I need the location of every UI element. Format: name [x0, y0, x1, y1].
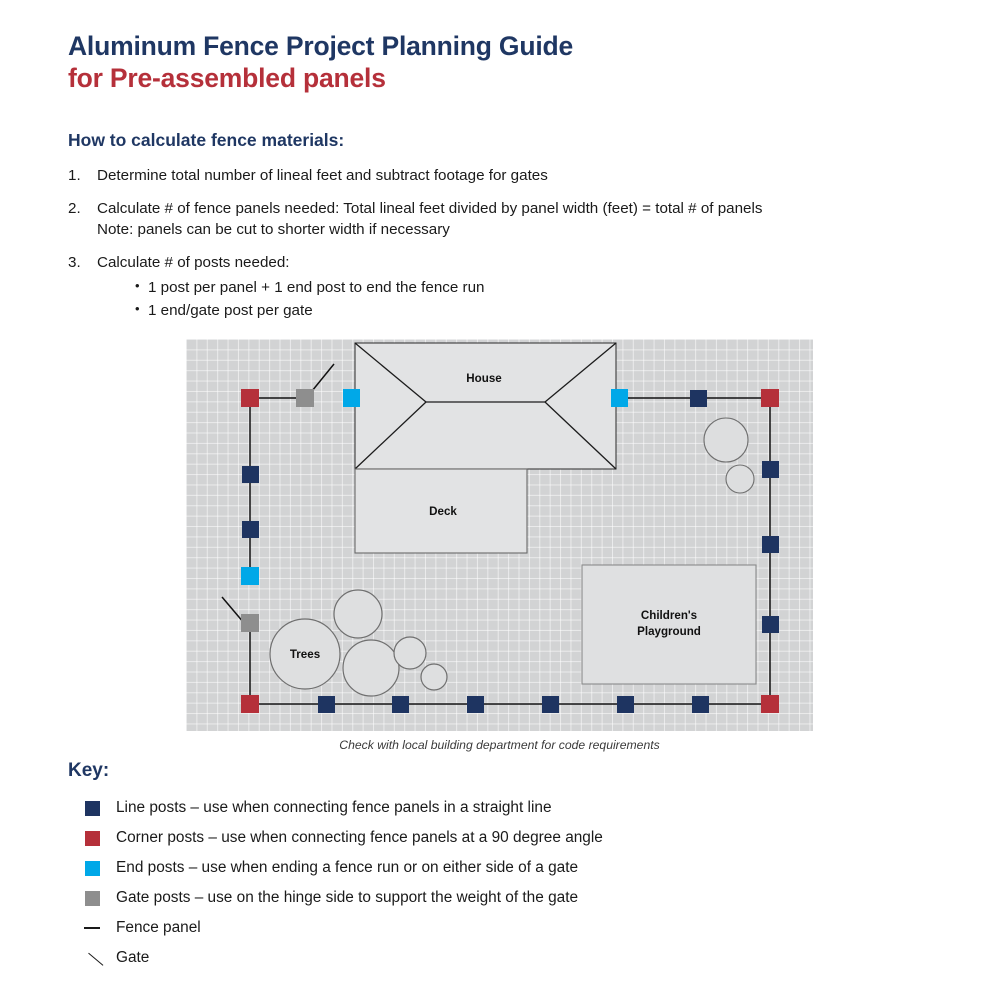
list-item: 1 post per panel + 1 end post to end the… — [135, 277, 948, 300]
line-post — [692, 696, 709, 713]
title-main: Aluminum Fence Project Planning Guide — [68, 30, 948, 62]
howto-section: How to calculate fence materials: 1. Det… — [68, 130, 948, 334]
key-item-end-posts: End posts – use when ending a fence run … — [68, 853, 948, 883]
list-item: 3. Calculate # of posts needed: 1 post p… — [68, 252, 948, 323]
key-item-label: Fence panel — [116, 919, 948, 937]
planning-guide-page: Aluminum Fence Project Planning Guide fo… — [0, 0, 1000, 1000]
horizontal-line-icon — [84, 927, 100, 929]
key-item-line-posts: Line posts – use when connecting fence p… — [68, 793, 948, 823]
end-post — [343, 389, 360, 407]
gate-lines — [222, 364, 334, 623]
key-item-label: Gate — [116, 949, 948, 967]
line-post — [318, 696, 335, 713]
house-label: House — [466, 372, 502, 385]
step-number: 2. — [68, 198, 97, 220]
key-section: Key: Line posts – use when connecting fe… — [68, 760, 948, 973]
end-post — [241, 567, 259, 585]
gray-square-icon — [85, 891, 100, 906]
list-item: 1 end/gate post per gate — [135, 300, 948, 323]
key-list: Line posts – use when connecting fence p… — [68, 793, 948, 973]
key-item-gate-posts: Gate posts – use on the hinge side to su… — [68, 883, 948, 913]
key-item-label: Corner posts – use when connecting fence… — [116, 829, 948, 847]
gate-line-top — [312, 364, 334, 391]
step-text: Determine total number of lineal feet an… — [97, 167, 548, 184]
diagram-svg: House Deck Children's Playground — [186, 339, 813, 731]
page-title: Aluminum Fence Project Planning Guide fo… — [68, 30, 948, 95]
cyan-square-icon — [85, 861, 100, 876]
diagonal-line-icon — [84, 951, 100, 965]
list-item: 1. Determine total number of lineal feet… — [68, 165, 948, 187]
line-post — [542, 696, 559, 713]
corner-post — [241, 389, 259, 407]
step-number: 3. — [68, 252, 97, 274]
playground-label-line1: Children's — [641, 609, 697, 622]
playground-label-line2: Playground — [637, 625, 701, 638]
key-item-label: Line posts – use when connecting fence p… — [116, 799, 948, 817]
tree-cluster-right — [704, 418, 754, 493]
howto-step-list: 1. Determine total number of lineal feet… — [68, 165, 948, 323]
line-post — [762, 616, 779, 633]
step-note: Note: panels can be cut to shorter width… — [97, 219, 948, 241]
line-post — [762, 536, 779, 553]
line-post — [617, 696, 634, 713]
howto-heading: How to calculate fence materials: — [68, 130, 948, 151]
key-item-label: End posts – use when ending a fence run … — [116, 859, 948, 877]
key-item-gate: Gate — [68, 943, 948, 973]
step-sub-bullets: 1 post per panel + 1 end post to end the… — [97, 277, 948, 323]
house-shape — [355, 343, 616, 469]
gate-posts — [241, 389, 314, 632]
line-post — [762, 461, 779, 478]
navy-square-icon — [85, 801, 100, 816]
red-square-icon — [85, 831, 100, 846]
deck-label: Deck — [429, 505, 457, 518]
corner-post — [761, 695, 779, 713]
corner-post — [241, 695, 259, 713]
key-heading: Key: — [68, 760, 948, 782]
title-subtitle: for Pre-assembled panels — [68, 62, 948, 94]
end-post — [611, 389, 628, 407]
step-text: Calculate # of fence panels needed: Tota… — [97, 200, 762, 217]
step-text: Calculate # of posts needed: — [97, 254, 290, 271]
gate-line-left — [222, 597, 244, 623]
line-post — [242, 521, 259, 538]
key-item-fence-panel: Fence panel — [68, 913, 948, 943]
line-post — [690, 390, 707, 407]
gate-post — [241, 614, 259, 632]
diagram-caption: Check with local building department for… — [186, 738, 813, 752]
line-post — [392, 696, 409, 713]
yard-layout-diagram: House Deck Children's Playground — [186, 339, 813, 731]
key-item-corner-posts: Corner posts – use when connecting fence… — [68, 823, 948, 853]
corner-post — [761, 389, 779, 407]
key-item-label: Gate posts – use on the hinge side to su… — [116, 889, 948, 907]
tree-cluster-left — [270, 590, 447, 696]
line-post — [242, 466, 259, 483]
line-post — [467, 696, 484, 713]
step-number: 1. — [68, 165, 97, 187]
list-item: 2. Calculate # of fence panels needed: T… — [68, 198, 948, 241]
gate-post — [296, 389, 314, 407]
trees-label: Trees — [290, 648, 320, 661]
